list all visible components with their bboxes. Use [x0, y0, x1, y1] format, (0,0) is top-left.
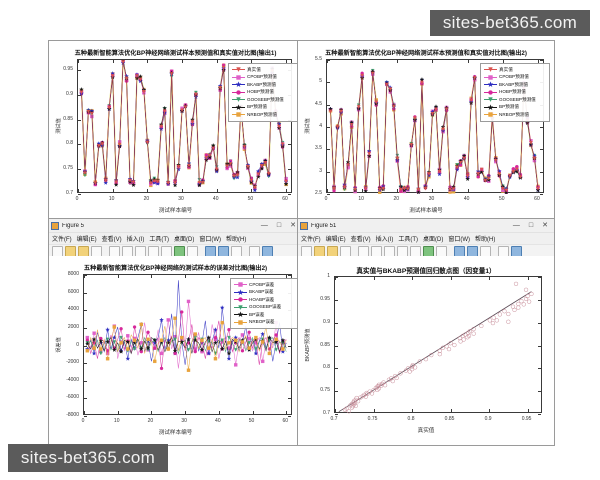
legend-item[interactable]: HOABP误差 — [234, 296, 294, 304]
y-tick-label: 0.9 — [49, 91, 75, 97]
x-tick-label: 50 — [249, 418, 255, 424]
x-tick-label: 0.7 — [331, 416, 338, 422]
window-title-bar[interactable]: Figure 5—□✕ — [49, 219, 302, 233]
menu-item-3[interactable]: 插入(I) — [127, 234, 145, 243]
x-axis-label: 测试样本编号 — [49, 206, 302, 214]
menu-item-6[interactable]: 窗口(W) — [199, 234, 221, 243]
legend-item[interactable]: GOOSEBP预测值 — [484, 96, 546, 104]
legend-item[interactable]: HOBP预测值 — [232, 89, 294, 97]
plot-area-fig-bot-right: 真实值与BKABP预测值回归散点图（因变量1）BKABP预测值真实值0.70.7… — [298, 256, 554, 445]
legend-label: 真实值 — [499, 67, 513, 73]
legend-swatch — [232, 104, 245, 111]
x-tick-label: 40 — [213, 196, 219, 202]
legend-swatch — [234, 311, 247, 318]
figure-window-fig-bot-left[interactable]: Figure 5—□✕文件(F)编辑(E)查看(V)插入(I)工具(T)桌面(D… — [48, 218, 303, 446]
maximize-button[interactable]: □ — [277, 222, 281, 230]
menu-item-4[interactable]: 工具(T) — [398, 234, 418, 243]
legend-label: GOOSEBP预测值 — [499, 97, 536, 103]
y-tick-label: 8000 — [49, 271, 81, 277]
y-tick-label: 4.5 — [298, 101, 324, 107]
axes-fig-bot-right — [334, 276, 542, 413]
chart-canvas-fig-bot-right — [335, 277, 543, 414]
menu-item-5[interactable]: 桌面(D) — [174, 234, 194, 243]
y-tick-label: -6000 — [49, 394, 81, 400]
watermark-0: sites-bet365.com — [430, 10, 590, 36]
legend-swatch — [234, 296, 247, 303]
legend-swatch — [484, 111, 497, 118]
legend-swatch — [232, 74, 245, 81]
x-tick-label: 40 — [464, 196, 470, 202]
legend-swatch — [232, 96, 245, 103]
y-tick-label: 0.85 — [49, 116, 75, 122]
window-controls[interactable]: —□✕ — [261, 222, 300, 230]
legend-item[interactable]: CPOBP误差 — [234, 281, 294, 289]
figure-window-fig-top-left[interactable]: 五种最新智能算法优化BP神经网络测试样本预测值和真实值对比图(输出1)测试值测试… — [48, 40, 303, 222]
minimize-button[interactable]: — — [261, 222, 268, 230]
legend-label: BP预测值 — [499, 104, 519, 110]
x-tick-label: 50 — [248, 196, 254, 202]
menu-item-0[interactable]: 文件(F) — [52, 234, 72, 243]
x-tick-label: 0.85 — [445, 416, 455, 422]
legend-label: CPOBP预测值 — [247, 74, 277, 80]
x-tick-label: 20 — [144, 196, 150, 202]
legend-label: CPOBP预测值 — [499, 74, 529, 80]
menu-item-1[interactable]: 编辑(E) — [77, 234, 97, 243]
legend-swatch — [484, 89, 497, 96]
legend-swatch — [234, 281, 247, 288]
menu-item-6[interactable]: 窗口(W) — [448, 234, 470, 243]
x-tick-label: 30 — [429, 196, 435, 202]
legend-swatch — [234, 304, 247, 311]
x-tick-label: 0 — [76, 196, 79, 202]
legend-label: BP预测值 — [247, 104, 267, 110]
legend-label: NRBOP预测值 — [499, 112, 529, 118]
toolbar-separator — [353, 247, 356, 256]
toolbar-separator — [104, 247, 107, 256]
plot-area-fig-top-right: 五种最新智能算法优化BP神经网络测试样本预测值和真实值对比图(输出2)测试值测试… — [298, 41, 554, 221]
y-tick-label: 0.95 — [49, 66, 75, 72]
legend-item[interactable]: 真实值 — [484, 66, 546, 74]
y-tick-mark — [538, 414, 541, 415]
y-tick-label: 0.8 — [49, 140, 75, 146]
legend-item[interactable]: HOBP预测值 — [484, 89, 546, 97]
x-tick-label: 20 — [148, 418, 154, 424]
close-button[interactable]: ✕ — [290, 222, 296, 230]
axes-fig-top-right: 真实值CPOBP预测值BKABP预测值HOBP预测值GOOSEBP预测值BP预测… — [326, 59, 544, 193]
y-tick-mark — [327, 194, 330, 195]
y-tick-label: 0.75 — [298, 387, 332, 393]
x-axis-label: 真实值 — [298, 426, 554, 434]
legend-label: HOABP误差 — [249, 297, 274, 303]
legend-swatch — [232, 111, 245, 118]
x-tick-label: 40 — [215, 418, 221, 424]
legend-item[interactable]: NRBOP预测值 — [484, 111, 546, 119]
window-title: Figure 51 — [311, 223, 336, 229]
legend-swatch — [232, 66, 245, 73]
y-tick-label: 2.5 — [298, 190, 324, 196]
legend-item[interactable]: BP误差 — [234, 311, 294, 319]
legend-swatch — [232, 81, 245, 88]
menu-item-5[interactable]: 桌面(D) — [423, 234, 443, 243]
legend-item[interactable]: BKABP预测值 — [484, 81, 546, 89]
menu-item-4[interactable]: 工具(T) — [149, 234, 169, 243]
legend-item[interactable]: CPOBP预测值 — [484, 74, 546, 82]
x-tick-label: 30 — [178, 196, 184, 202]
legend-swatch — [234, 319, 247, 326]
legend-label: NRBOP预测值 — [247, 112, 277, 118]
desktop: 五种最新智能算法优化BP神经网络测试样本预测值和真实值对比图(输出1)测试值测试… — [0, 0, 600, 480]
legend-item[interactable]: BP预测值 — [484, 104, 546, 112]
maximize-button[interactable]: □ — [529, 222, 533, 230]
y-tick-label: 0.8 — [298, 364, 332, 370]
toolbar-separator — [244, 247, 247, 256]
plot-area-fig-top-left: 五种最新智能算法优化BP神经网络测试样本预测值和真实值对比图(输出1)测试值测试… — [49, 41, 302, 221]
x-tick-label: 60 — [534, 196, 540, 202]
legend-label: HOBP预测值 — [247, 89, 274, 95]
legend-swatch — [234, 289, 247, 296]
x-tick-label: 20 — [394, 196, 400, 202]
watermark-1: sites-bet365.com — [8, 444, 168, 472]
legend-swatch — [484, 74, 497, 81]
axes-fig-bot-left: CPOBP误差BKABP误差HOABP误差GOOSEBP误差BP误差NRBOP误… — [83, 274, 292, 415]
matlab-figure-icon — [51, 222, 59, 230]
legend-label: BP误差 — [249, 312, 264, 318]
legend-item[interactable]: BP预测值 — [232, 104, 294, 112]
legend-item[interactable]: BKABP误差 — [234, 289, 294, 297]
y-tick-mark — [78, 194, 81, 195]
x-tick-label: 10 — [114, 418, 120, 424]
y-tick-label: 6000 — [49, 289, 81, 295]
legend-swatch — [484, 81, 497, 88]
menu-item-7[interactable]: 帮助(H) — [226, 234, 246, 243]
y-tick-label: 5.5 — [298, 56, 324, 62]
legend-label: BKABP预测值 — [499, 82, 528, 88]
legend-item[interactable]: BKABP预测值 — [232, 81, 294, 89]
legend-swatch — [484, 66, 497, 73]
legend-label: CPOBP误差 — [249, 282, 274, 288]
chart-title: 五种最新智能算法优化BP神经网络的测试样本的误差对比图(输出2) — [49, 263, 302, 272]
x-tick-label: 60 — [282, 418, 288, 424]
axes-fig-top-left: 真实值CPOBP预测值BKABP预测值HOBP预测值GOOSEBP预测值BP预测… — [77, 59, 292, 193]
window-title-bar[interactable]: Figure 51—□✕ — [298, 219, 554, 233]
x-tick-label: 50 — [499, 196, 505, 202]
toolbar-separator — [449, 247, 452, 256]
legend-swatch — [484, 104, 497, 111]
y-tick-label: 0.75 — [49, 165, 75, 171]
x-tick-label: 10 — [358, 196, 364, 202]
x-tick-label: 0.8 — [408, 416, 415, 422]
legend-item[interactable]: 真实值 — [232, 66, 294, 74]
matlab-figure-icon — [300, 222, 308, 230]
chart-legend[interactable]: 真实值CPOBP预测值BKABP预测值HOBP预测值GOOSEBP预测值BP预测… — [480, 63, 550, 122]
chart-title: 五种最新智能算法优化BP神经网络测试样本预测值和真实值对比图(输出2) — [298, 48, 554, 57]
plot-area-fig-bot-left: 五种最新智能算法优化BP神经网络的测试样本的误差对比图(输出2)误差值测试样本编… — [49, 256, 302, 445]
y-tick-label: 2000 — [49, 324, 81, 330]
figure-window-fig-top-right[interactable]: 五种最新智能算法优化BP神经网络测试样本预测值和真实值对比图(输出2)测试值测试… — [297, 40, 555, 222]
x-tick-label: 0.75 — [368, 416, 378, 422]
y-tick-mark — [540, 194, 543, 195]
y-tick-label: 0.95 — [298, 296, 332, 302]
y-tick-label: 3 — [298, 168, 324, 174]
legend-label: 真实值 — [247, 67, 261, 73]
chart-legend[interactable]: 真实值CPOBP预测值BKABP预测值HOBP预测值GOOSEBP预测值BP预测… — [228, 63, 298, 122]
x-tick-label: 10 — [109, 196, 115, 202]
x-tick-label: 0.9 — [485, 416, 492, 422]
y-tick-label: -8000 — [49, 412, 81, 418]
y-tick-label: 0.9 — [298, 319, 332, 325]
legend-item[interactable]: CPOBP预测值 — [232, 74, 294, 82]
y-tick-label: 4000 — [49, 306, 81, 312]
y-tick-mark — [335, 414, 338, 415]
menu-item-2[interactable]: 查看(V) — [102, 234, 122, 243]
y-tick-mark — [288, 194, 291, 195]
figure-window-fig-bot-right[interactable]: Figure 51—□✕文件(F)编辑(E)查看(V)插入(I)工具(T)桌面(… — [297, 218, 555, 446]
y-tick-mark — [84, 416, 87, 417]
legend-label: BKABP预测值 — [247, 82, 276, 88]
y-tick-label: 0.7 — [298, 410, 332, 416]
legend-item[interactable]: NRBOP误差 — [234, 319, 294, 327]
x-tick-label: 0.95 — [522, 416, 532, 422]
menu-item-1[interactable]: 编辑(E) — [326, 234, 346, 243]
x-tick-label: 60 — [282, 196, 288, 202]
legend-label: HOBP预测值 — [499, 89, 526, 95]
legend-label: GOOSEBP预测值 — [247, 97, 284, 103]
y-tick-label: -2000 — [49, 359, 81, 365]
legend-label: GOOSEBP误差 — [249, 304, 281, 310]
menu-item-7[interactable]: 帮助(H) — [475, 234, 495, 243]
menu-item-2[interactable]: 查看(V) — [351, 234, 371, 243]
menu-item-3[interactable]: 插入(I) — [376, 234, 394, 243]
y-tick-label: 4 — [298, 123, 324, 129]
minimize-button[interactable]: — — [513, 222, 520, 230]
legend-item[interactable]: NRBOP预测值 — [232, 111, 294, 119]
menu-bar[interactable]: 文件(F)编辑(E)查看(V)插入(I)工具(T)桌面(D)窗口(W)帮助(H) — [298, 233, 554, 245]
window-controls[interactable]: —□✕ — [513, 222, 552, 230]
legend-swatch — [484, 96, 497, 103]
x-tick-label: 0 — [325, 196, 328, 202]
y-tick-mark — [288, 416, 291, 417]
close-button[interactable]: ✕ — [542, 222, 548, 230]
chart-legend[interactable]: CPOBP误差BKABP误差HOABP误差GOOSEBP误差BP误差NRBOP误… — [230, 278, 298, 329]
y-tick-label: 0.85 — [298, 342, 332, 348]
legend-item[interactable]: GOOSEBP预测值 — [232, 96, 294, 104]
y-tick-label: 3.5 — [298, 145, 324, 151]
y-tick-label: 0.7 — [49, 190, 75, 196]
x-axis-label: 测试样本编号 — [49, 428, 302, 436]
toolbar-separator — [493, 247, 496, 256]
y-tick-label: 5 — [298, 78, 324, 84]
menu-bar[interactable]: 文件(F)编辑(E)查看(V)插入(I)工具(T)桌面(D)窗口(W)帮助(H) — [49, 233, 302, 245]
y-tick-label: 0 — [49, 342, 81, 348]
x-tick-label: 30 — [181, 418, 187, 424]
legend-label: NRBOP误差 — [249, 319, 275, 325]
legend-label: BKABP误差 — [249, 289, 274, 295]
legend-swatch — [232, 89, 245, 96]
chart-title: 五种最新智能算法优化BP神经网络测试样本预测值和真实值对比图(输出1) — [49, 48, 302, 57]
y-tick-label: 1 — [298, 273, 332, 279]
legend-item[interactable]: GOOSEBP误差 — [234, 304, 294, 312]
chart-title: 真实值与BKABP预测值回归散点图（因变量1） — [298, 265, 554, 275]
x-tick-label: 0 — [82, 418, 85, 424]
y-tick-label: -4000 — [49, 377, 81, 383]
toolbar-separator — [200, 247, 203, 256]
menu-item-0[interactable]: 文件(F) — [301, 234, 321, 243]
x-axis-label: 测试样本编号 — [298, 206, 554, 214]
window-title: Figure 5 — [62, 223, 84, 229]
